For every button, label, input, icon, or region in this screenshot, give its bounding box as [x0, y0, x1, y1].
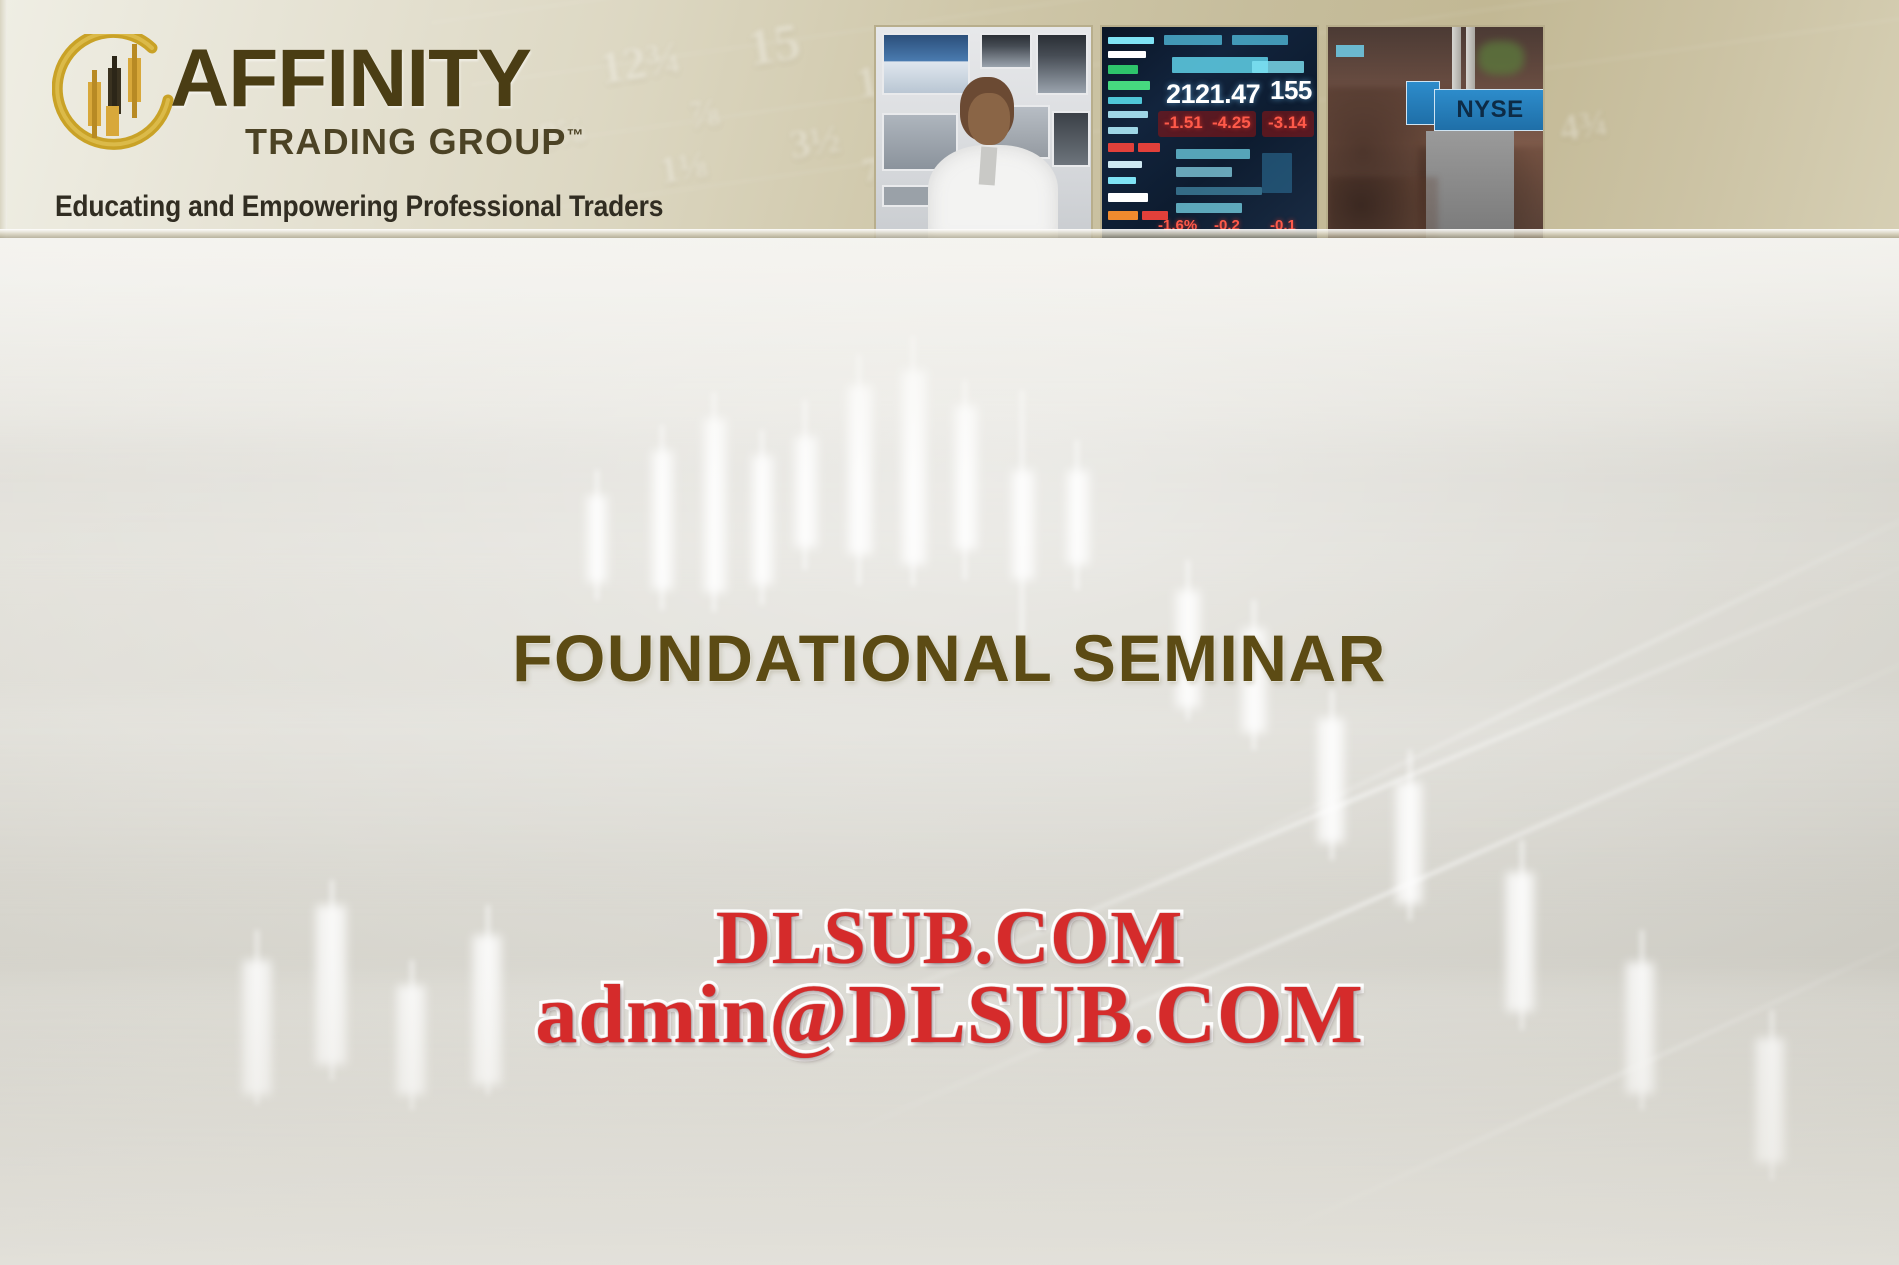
- logo-tagline: Educating and Empowering Professional Tr…: [55, 190, 663, 224]
- index-level-value: 2121.47: [1166, 79, 1260, 110]
- secondary-level-value: 155: [1270, 75, 1312, 106]
- ticker-number: ⅞: [687, 88, 724, 139]
- background-bottom-haze: [0, 965, 1899, 1265]
- change-value-3: -3.14: [1268, 113, 1307, 133]
- slide-header: 15 1¼ ⅞ 12¾ 3½ 1⅛ 9⅝ 7¼ 21 4¾: [0, 0, 1899, 238]
- nyse-sign-text: NYSE: [1456, 96, 1523, 124]
- market-data-board-photo: 2121.47 155 -1.51 -4.25 -3.14 -1.6% -0.2…: [1100, 25, 1319, 238]
- logo-subtitle: TRADING GROUP™: [245, 124, 584, 160]
- background-top-haze: [0, 238, 1899, 478]
- change-value-2: -4.25: [1212, 113, 1251, 133]
- logo-wordmark: AFFINITY: [170, 38, 531, 120]
- candlestick-swoosh-icon: [52, 34, 184, 166]
- affinity-trading-group-logo: AFFINITY TRADING GROUP™ Educating and Em…: [52, 28, 672, 208]
- header-left-edge: [0, 0, 7, 238]
- nyse-trading-floor-photo: NYSE: [1326, 25, 1545, 238]
- logo-subtitle-text: TRADING GROUP: [245, 121, 567, 162]
- ticker-number: 4¾: [1557, 101, 1611, 152]
- header-photo-strip: 2121.47 155 -1.51 -4.25 -3.14 -1.6% -0.2…: [874, 25, 1545, 238]
- presentation-slide: 15 1¼ ⅞ 12¾ 3½ 1⅛ 9⅝ 7¼ 21 4¾: [0, 0, 1899, 1265]
- trademark-symbol: ™: [567, 126, 584, 145]
- slide-title: FOUNDATIONAL SEMINAR: [0, 620, 1899, 696]
- change-value-1: -1.51: [1164, 113, 1203, 133]
- ticker-number: 3½: [787, 114, 844, 168]
- trader-at-desk-photo: [874, 25, 1093, 238]
- header-bottom-border: [0, 229, 1899, 238]
